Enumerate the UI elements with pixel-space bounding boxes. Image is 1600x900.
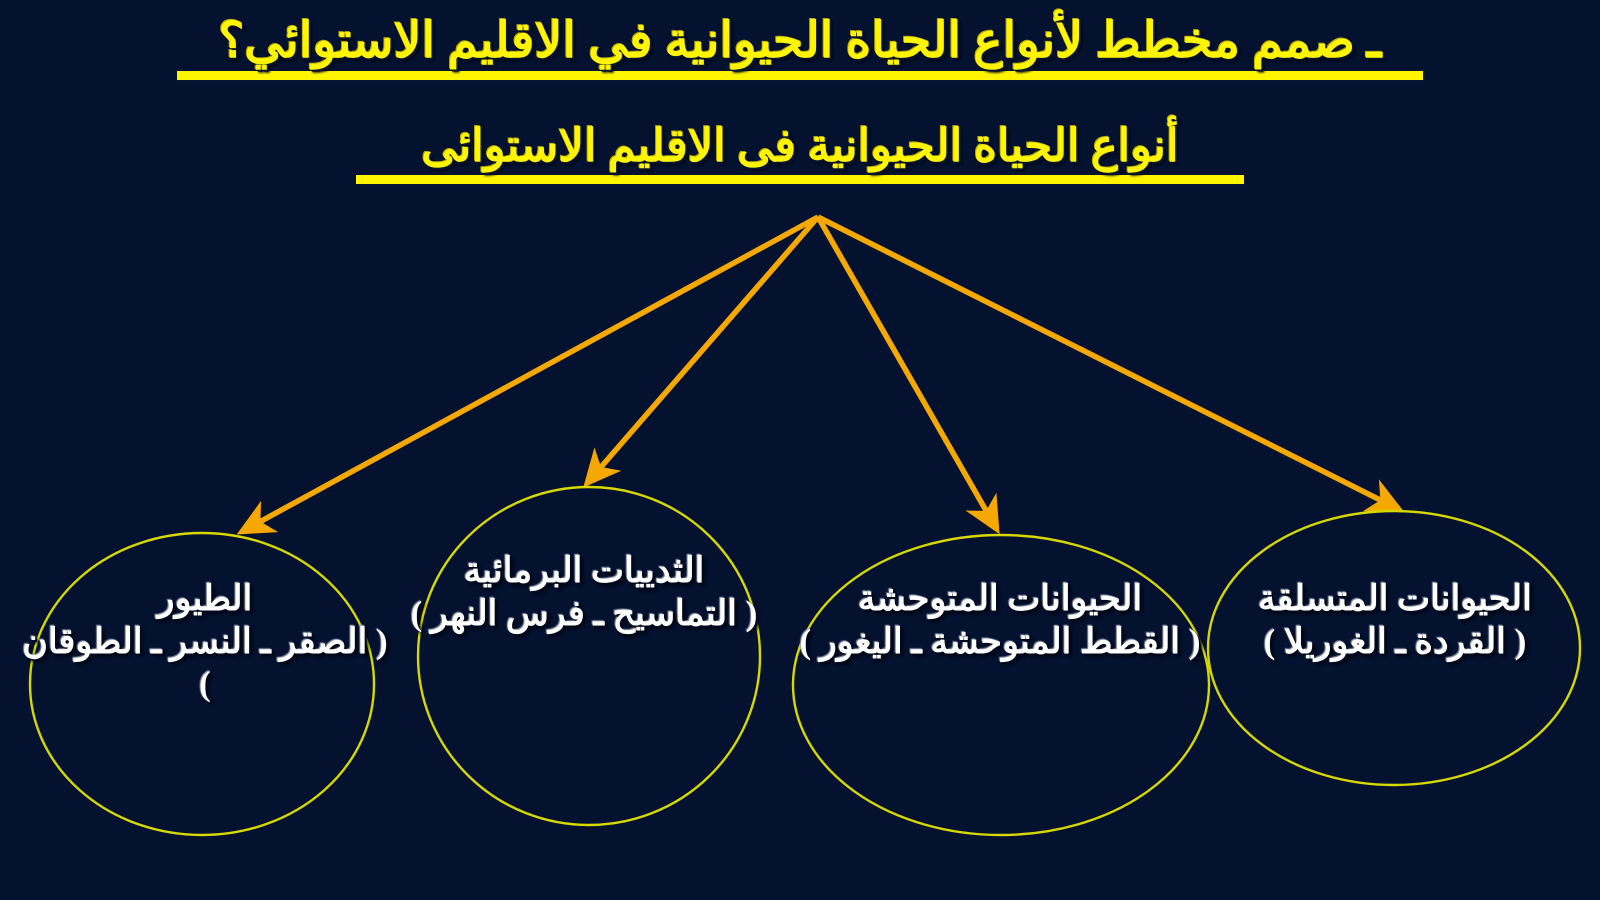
node-ellipse-birds[interactable] xyxy=(30,533,374,835)
node-shape-layer xyxy=(0,0,1600,900)
node-ellipse-climbing[interactable] xyxy=(1208,511,1580,785)
node-ellipse-amphibians[interactable] xyxy=(418,487,760,825)
node-ellipse-wild[interactable] xyxy=(793,535,1209,835)
slide-canvas: ـ صمم مخطط لأنواع الحياة الحيوانية في ال… xyxy=(0,0,1600,900)
